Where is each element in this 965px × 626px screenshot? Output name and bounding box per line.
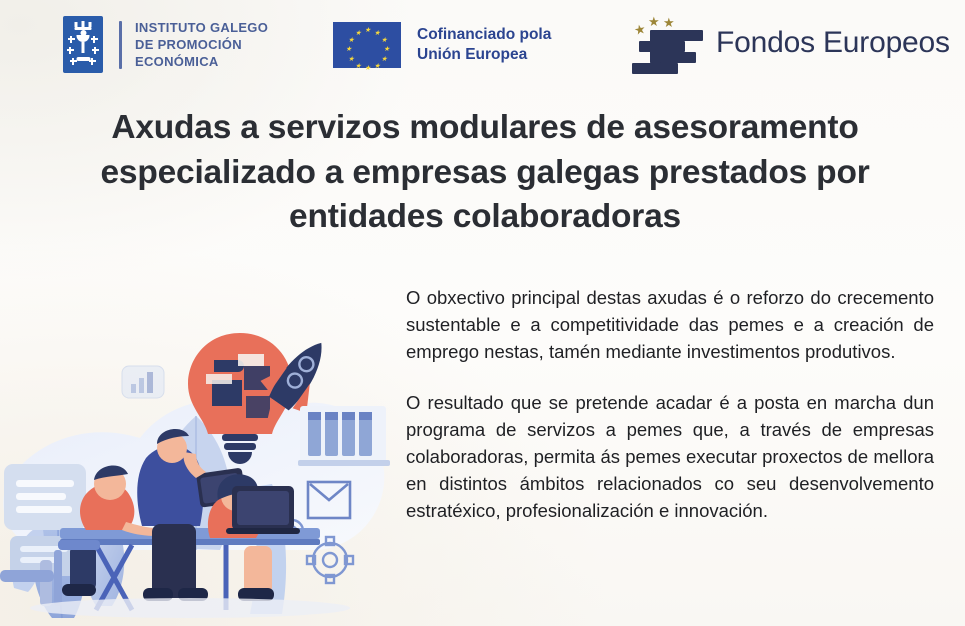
body-copy: O obxectivo principal destas axudas é o … <box>406 284 934 525</box>
bar-chart-badge <box>122 366 164 398</box>
logo-fondos-europeos: ★ ★ ★ Fondos Europeos <box>622 12 950 74</box>
logo-igape: INSTITUTO GALEGO DE PROMOCIÓN ECONÓMICA <box>63 16 268 73</box>
bookshelf <box>298 406 390 466</box>
igape-label: INSTITUTO GALEGO DE PROMOCIÓN ECONÓMICA <box>135 19 268 70</box>
logo-bar: INSTITUTO GALEGO DE PROMOCIÓN ECONÓMICA … <box>0 0 965 92</box>
chair-right <box>0 570 54 582</box>
paragraph-objective: O obxectivo principal destas axudas é o … <box>406 284 934 366</box>
xunta-galicia-coat-of-arms-icon <box>63 16 103 73</box>
poster-page: INSTITUTO GALEGO DE PROMOCIÓN ECONÓMICA … <box>0 0 965 626</box>
logo-divider <box>119 21 122 69</box>
floor-shadow <box>30 598 350 618</box>
page-title: Axudas a servizos modulares de asesorame… <box>40 106 930 240</box>
paragraph-result: O resultado que se pretende acadar é a p… <box>406 389 934 525</box>
eu-flag-icon: ★ ★ ★ ★ ★ ★ ★ ★ ★ ★ ★ ★ <box>333 22 401 68</box>
laptop-on-desk <box>226 486 300 534</box>
chalice-icon <box>76 35 91 61</box>
team-collaboration-illustration <box>0 288 400 626</box>
logo-european-union: ★ ★ ★ ★ ★ ★ ★ ★ ★ ★ ★ ★ Cofinanciado pol… <box>333 22 551 68</box>
eu-label: Cofinanciado pola Unión Europea <box>417 25 551 65</box>
fondos-europeos-label: Fondos Europeos <box>716 26 950 60</box>
fondos-europeos-stepped-bars-icon: ★ ★ ★ <box>622 12 704 74</box>
